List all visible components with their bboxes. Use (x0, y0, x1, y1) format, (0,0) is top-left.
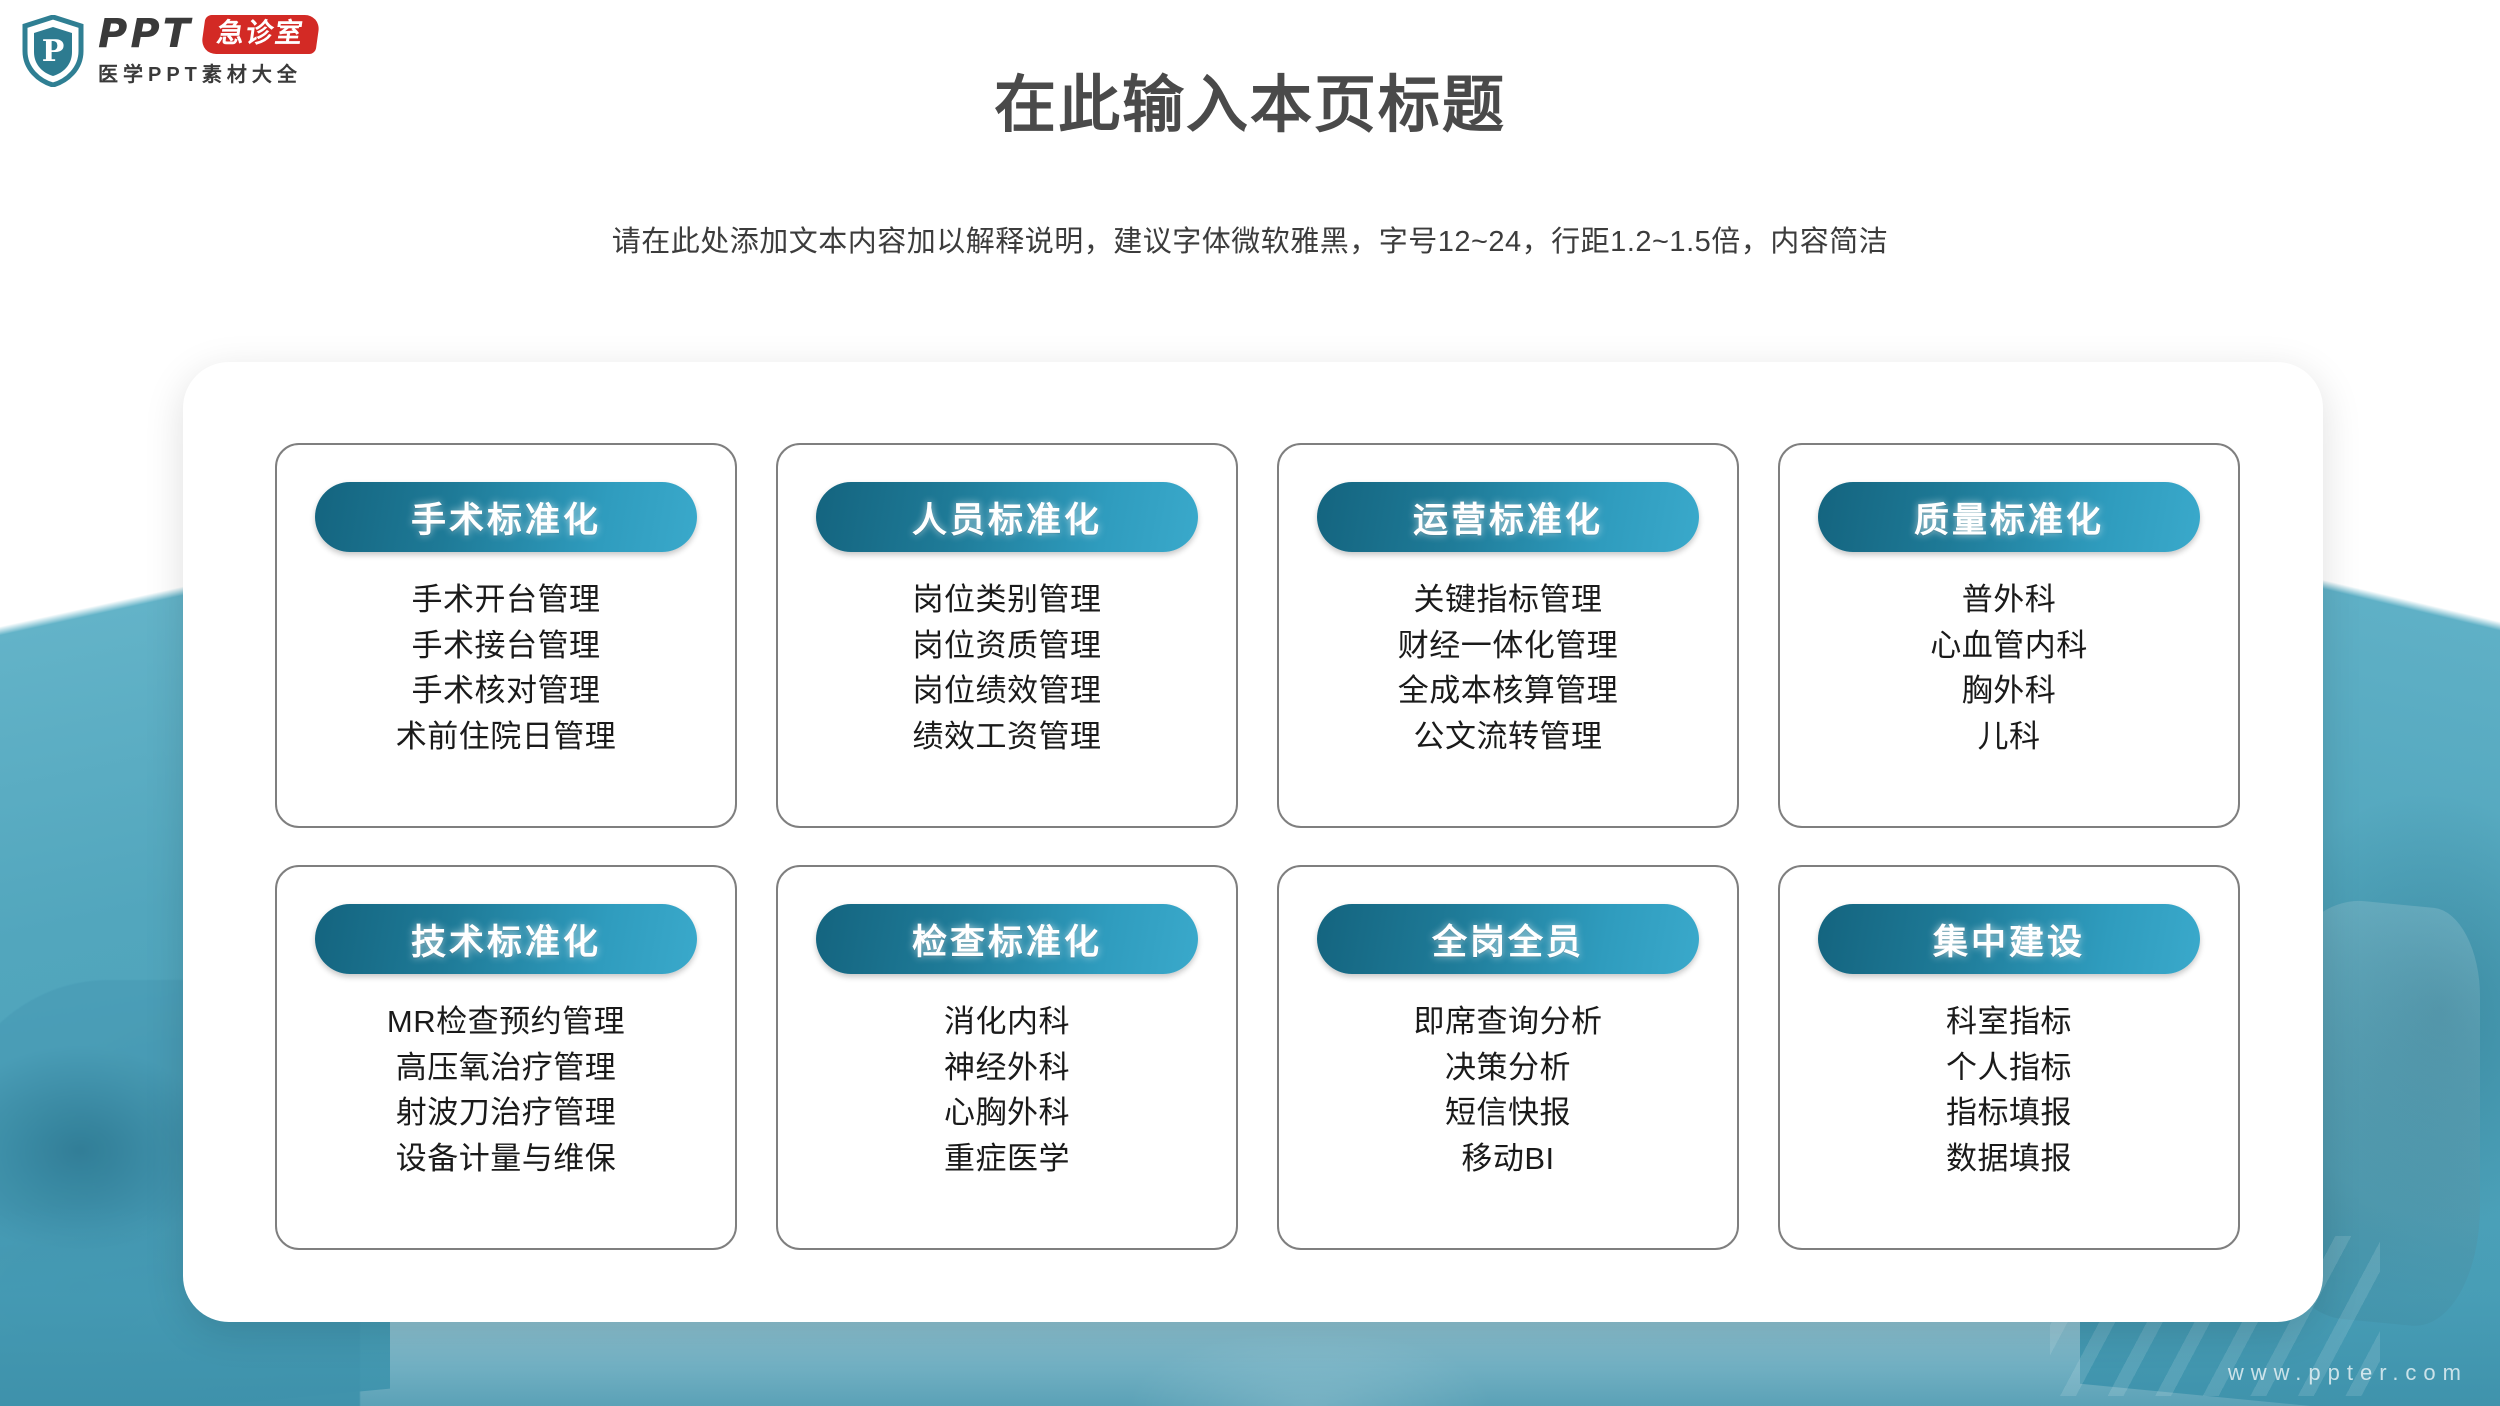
card-title-pill: 检查标准化 (816, 904, 1198, 974)
list-item: 指标填报 (1946, 1091, 2072, 1135)
list-item: 消化内科 (944, 1000, 1070, 1044)
list-item: 岗位绩效管理 (913, 669, 1102, 713)
page-title: 在此输入本页标题 (0, 54, 2500, 144)
card-item-list: 消化内科 神经外科 心胸外科 重症医学 (944, 1000, 1070, 1181)
list-item: 个人指标 (1946, 1046, 2072, 1090)
page-subtitle: 请在此处添加文本内容加以解释说明，建议字体微软雅黑，字号12~24，行距1.2~… (0, 218, 2500, 260)
list-item: 移动BI (1461, 1137, 1554, 1181)
list-item: 公文流转管理 (1414, 715, 1603, 759)
list-item: 儿科 (1978, 715, 2041, 759)
card-item-list: 关键指标管理 财经一体化管理 全成本核算管理 公文流转管理 (1398, 578, 1619, 759)
card-title-pill: 运营标准化 (1317, 482, 1699, 552)
list-item: 岗位资质管理 (913, 624, 1102, 668)
site-watermark: www.ppter.com (2228, 1360, 2468, 1386)
card-personnel-standardization[interactable]: 人员标准化 岗位类别管理 岗位资质管理 岗位绩效管理 绩效工资管理 (776, 443, 1238, 828)
card-quality-standardization[interactable]: 质量标准化 普外科 心血管内科 胸外科 儿科 (1778, 443, 2240, 828)
card-title-pill: 集中建设 (1818, 904, 2200, 974)
brand-name-main: PPT (98, 14, 193, 54)
list-item: 即席查询分析 (1414, 1000, 1603, 1044)
card-technology-standardization[interactable]: 技术标准化 MR检查预约管理 高压氧治疗管理 射波刀治疗管理 设备计量与维保 (275, 865, 737, 1250)
list-item: MR检查预约管理 (387, 1000, 625, 1044)
list-item: 岗位类别管理 (913, 578, 1102, 622)
list-item: 术前住院日管理 (396, 715, 617, 759)
list-item: 绩效工资管理 (913, 715, 1102, 759)
card-centralized-construction[interactable]: 集中建设 科室指标 个人指标 指标填报 数据填报 (1778, 865, 2240, 1250)
card-item-list: MR检查预约管理 高压氧治疗管理 射波刀治疗管理 设备计量与维保 (387, 1000, 625, 1181)
list-item: 设备计量与维保 (396, 1137, 617, 1181)
list-item: 科室指标 (1946, 1000, 2072, 1044)
card-item-list: 手术开台管理 手术接台管理 手术核对管理 术前住院日管理 (396, 578, 617, 759)
card-operations-standardization[interactable]: 运营标准化 关键指标管理 财经一体化管理 全成本核算管理 公文流转管理 (1277, 443, 1739, 828)
list-item: 短信快报 (1445, 1091, 1571, 1135)
brand-name-badge: 急诊室 (200, 15, 320, 54)
card-item-list: 岗位类别管理 岗位资质管理 岗位绩效管理 绩效工资管理 (913, 578, 1102, 759)
card-grid: 手术标准化 手术开台管理 手术接台管理 手术核对管理 术前住院日管理 人员标准化… (275, 443, 2240, 1250)
list-item: 手术接台管理 (412, 624, 601, 668)
list-item: 神经外科 (944, 1046, 1070, 1090)
list-item: 重症医学 (944, 1137, 1070, 1181)
card-all-posts-all-staff[interactable]: 全岗全员 即席查询分析 决策分析 短信快报 移动BI (1277, 865, 1739, 1250)
list-item: 决策分析 (1445, 1046, 1571, 1090)
list-item: 高压氧治疗管理 (396, 1046, 617, 1090)
list-item: 手术核对管理 (412, 669, 601, 713)
card-item-list: 即席查询分析 决策分析 短信快报 移动BI (1414, 1000, 1603, 1181)
list-item: 心胸外科 (944, 1091, 1070, 1135)
card-surgery-standardization[interactable]: 手术标准化 手术开台管理 手术接台管理 手术核对管理 术前住院日管理 (275, 443, 737, 828)
list-item: 普外科 (1962, 578, 2057, 622)
list-item: 手术开台管理 (412, 578, 601, 622)
card-title-pill: 全岗全员 (1317, 904, 1699, 974)
list-item: 财经一体化管理 (1398, 624, 1619, 668)
card-item-list: 科室指标 个人指标 指标填报 数据填报 (1946, 1000, 2072, 1181)
list-item: 数据填报 (1946, 1137, 2072, 1181)
card-title-pill: 技术标准化 (315, 904, 697, 974)
list-item: 心血管内科 (1930, 624, 2088, 668)
list-item: 胸外科 (1962, 669, 2057, 713)
list-item: 射波刀治疗管理 (396, 1091, 617, 1135)
card-examination-standardization[interactable]: 检查标准化 消化内科 神经外科 心胸外科 重症医学 (776, 865, 1238, 1250)
card-title-pill: 质量标准化 (1818, 482, 2200, 552)
card-item-list: 普外科 心血管内科 胸外科 儿科 (1930, 578, 2088, 759)
list-item: 全成本核算管理 (1398, 669, 1619, 713)
list-item: 关键指标管理 (1414, 578, 1603, 622)
card-title-pill: 人员标准化 (816, 482, 1198, 552)
card-title-pill: 手术标准化 (315, 482, 697, 552)
